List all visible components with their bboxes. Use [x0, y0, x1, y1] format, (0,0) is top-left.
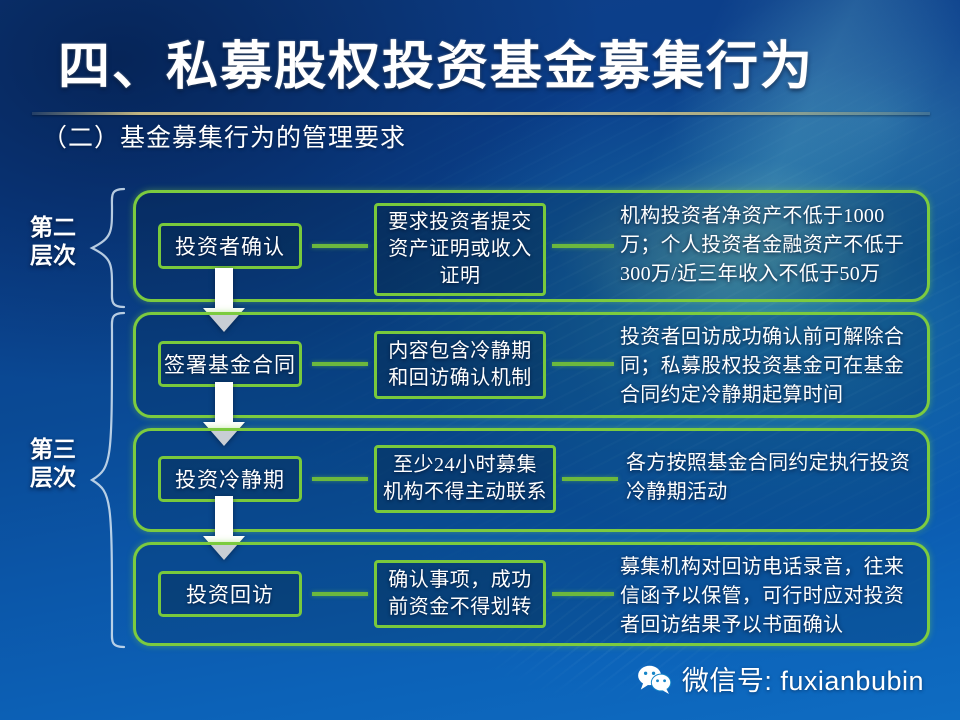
- connector-line: [562, 477, 618, 481]
- footer: 微信号: fuxianbubin: [636, 659, 924, 698]
- wechat-icon: [636, 664, 672, 694]
- connector-line: [312, 244, 368, 248]
- description-text: 募集机构对回访电话录音，往来信函予以保管，可行时应对投资者回访结果予以书面确认: [620, 553, 920, 640]
- level-label-second: 第二 层次: [22, 214, 84, 270]
- requirement-box[interactable]: 内容包含冷静期和回访确认机制: [374, 331, 546, 399]
- footer-wechat-text: 微信号: fuxianbubin: [682, 659, 924, 698]
- connector-line: [552, 362, 614, 366]
- requirement-box[interactable]: 要求投资者提交资产证明或收入证明: [374, 203, 546, 296]
- level-label-second-line2: 层次: [22, 242, 84, 270]
- stage-box[interactable]: 投资者确认: [158, 223, 302, 269]
- flow-row[interactable]: 投资者确认 要求投资者提交资产证明或收入证明 机构投资者净资产不低于1000万；…: [133, 190, 930, 302]
- description-text: 各方按照基金合同约定执行投资冷静期活动: [626, 449, 916, 507]
- stage-box[interactable]: 投资冷静期: [158, 456, 302, 502]
- connector-line: [312, 477, 368, 481]
- brace-second-level: [86, 186, 128, 310]
- page-title: 四、私募股权投资基金募集行为: [58, 36, 918, 100]
- connector-line: [312, 362, 368, 366]
- connector-line: [552, 592, 614, 596]
- flow-row[interactable]: 投资冷静期 至少24小时募集机构不得主动联系 各方按照基金合同约定执行投资冷静期…: [133, 428, 930, 532]
- page-subtitle: （二）基金募集行为的管理要求: [42, 122, 406, 156]
- description-text: 机构投资者净资产不低于1000万；个人投资者金融资产不低于300万/近三年收入不…: [620, 202, 920, 289]
- flow-row[interactable]: 投资回访 确认事项，成功前资金不得划转 募集机构对回访电话录音，往来信函予以保管…: [133, 542, 930, 646]
- flow-row[interactable]: 签署基金合同 内容包含冷静期和回访确认机制 投资者回访成功确认前可解除合同；私募…: [133, 312, 930, 418]
- slide-canvas: 四、私募股权投资基金募集行为 （二）基金募集行为的管理要求 第二 层次 第三 层…: [0, 0, 960, 720]
- level-label-second-line1: 第二: [22, 214, 84, 242]
- level-label-third: 第三 层次: [22, 436, 84, 492]
- brace-third-level: [86, 310, 128, 650]
- level-label-third-line2: 层次: [22, 464, 84, 492]
- connector-line: [312, 592, 368, 596]
- requirement-box[interactable]: 确认事项，成功前资金不得划转: [374, 560, 546, 628]
- stage-box[interactable]: 投资回访: [158, 571, 302, 617]
- title-divider: [32, 112, 930, 115]
- stage-box[interactable]: 签署基金合同: [158, 341, 302, 387]
- requirement-box[interactable]: 至少24小时募集机构不得主动联系: [374, 445, 556, 513]
- connector-line: [552, 244, 614, 248]
- level-label-third-line1: 第三: [22, 436, 84, 464]
- description-text: 投资者回访成功确认前可解除合同；私募股权投资基金可在基金合同约定冷静期起算时间: [620, 323, 920, 410]
